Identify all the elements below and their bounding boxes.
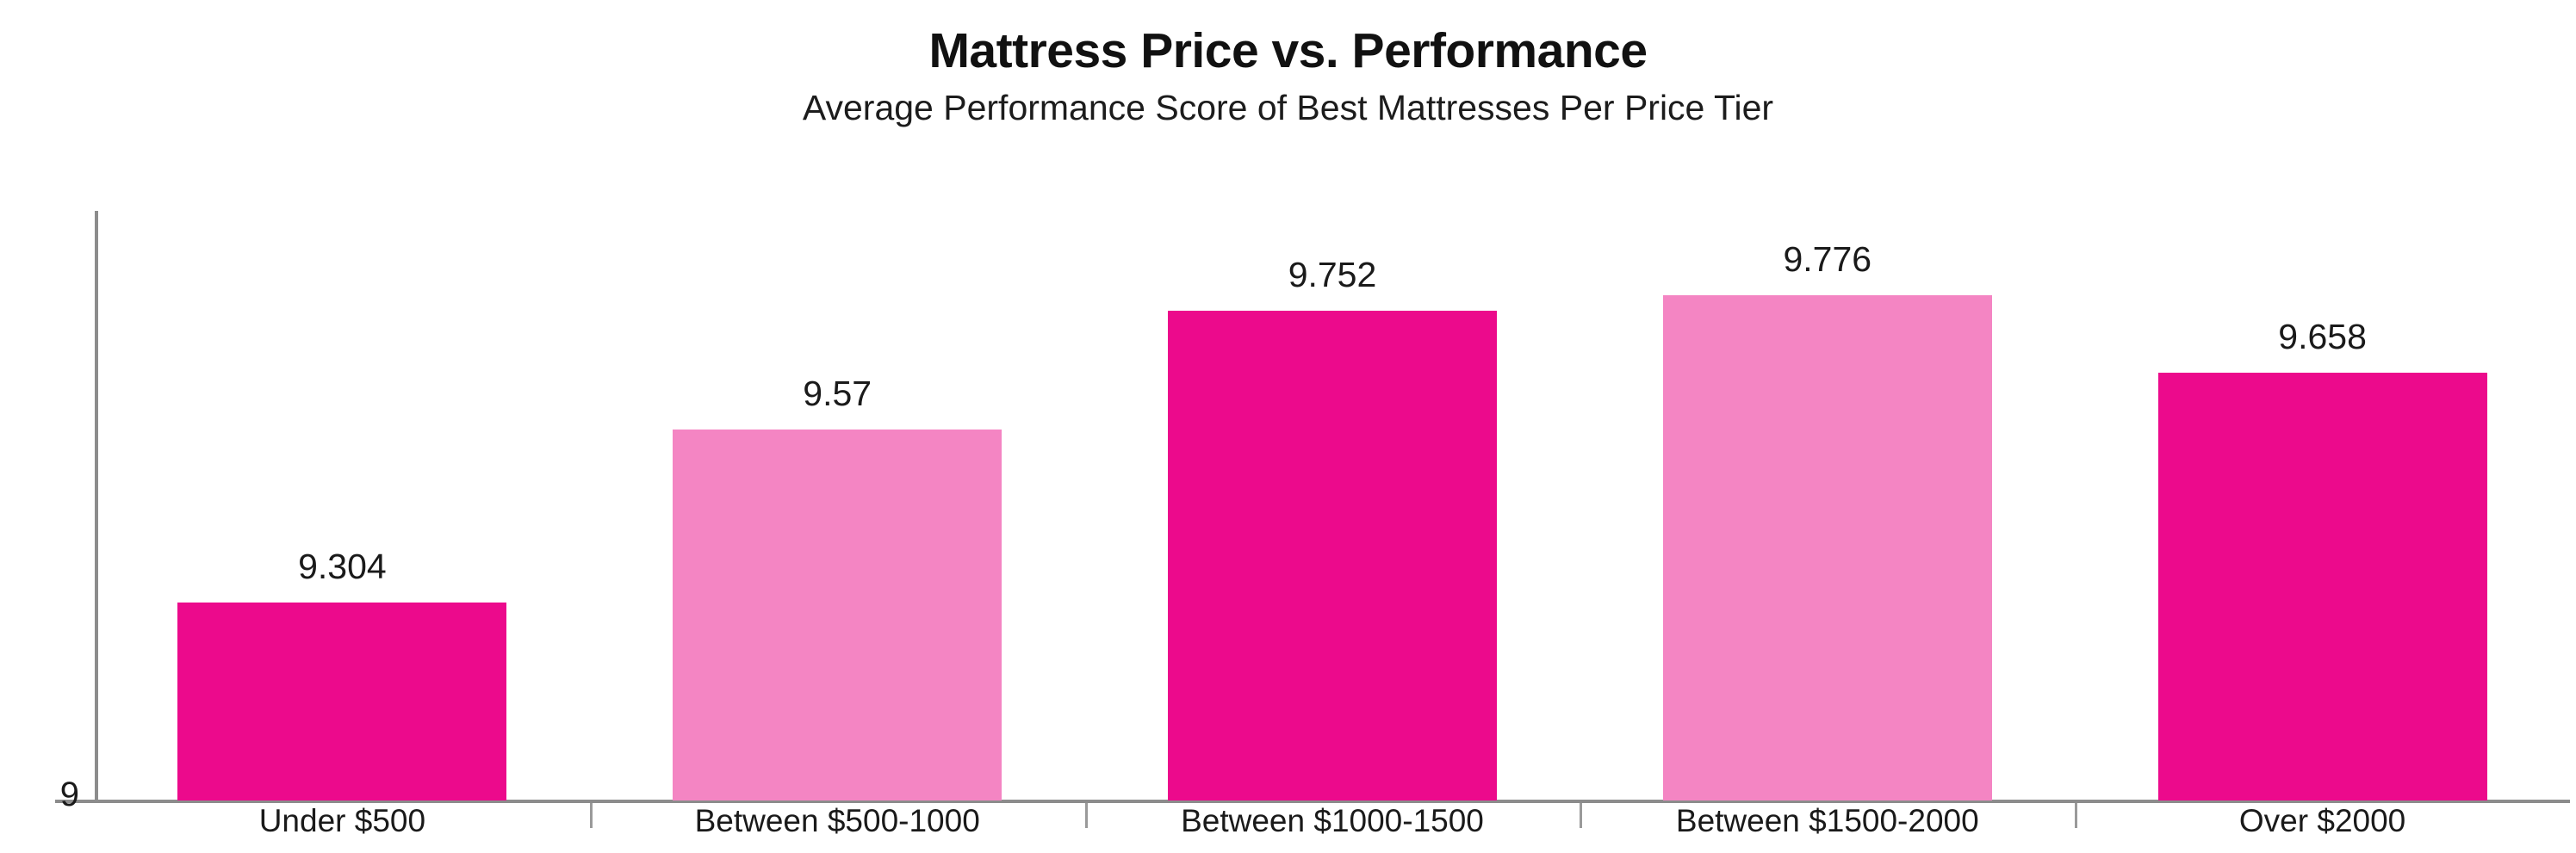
bar[interactable] [673, 430, 1002, 800]
plot-area: 9 9.3049.579.7529.7769.658 Under $500Bet… [0, 0, 2576, 853]
x-axis-category-label: Between $500-1000 [590, 805, 1085, 837]
y-axis-line [95, 211, 98, 803]
bar[interactable] [1663, 295, 1992, 800]
x-axis-category-label: Between $1500-2000 [1580, 805, 2075, 837]
chart-container: Mattress Price vs. Performance Average P… [0, 0, 2576, 853]
x-axis-category-label: Under $500 [95, 805, 590, 837]
bar-value-label: 9.658 [2158, 319, 2487, 355]
bar[interactable] [177, 603, 506, 800]
bar-value-label: 9.57 [673, 376, 1002, 411]
x-axis-category-label: Between $1000-1500 [1085, 805, 1580, 837]
x-axis-category-label: Over $2000 [2075, 805, 2570, 837]
y-axis-tick-label-9: 9 [7, 777, 79, 812]
bar-value-label: 9.304 [177, 549, 506, 584]
bar[interactable] [1168, 311, 1497, 800]
bar-value-label: 9.752 [1168, 257, 1497, 293]
bar[interactable] [2158, 373, 2487, 800]
bar-value-label: 9.776 [1663, 242, 1992, 277]
